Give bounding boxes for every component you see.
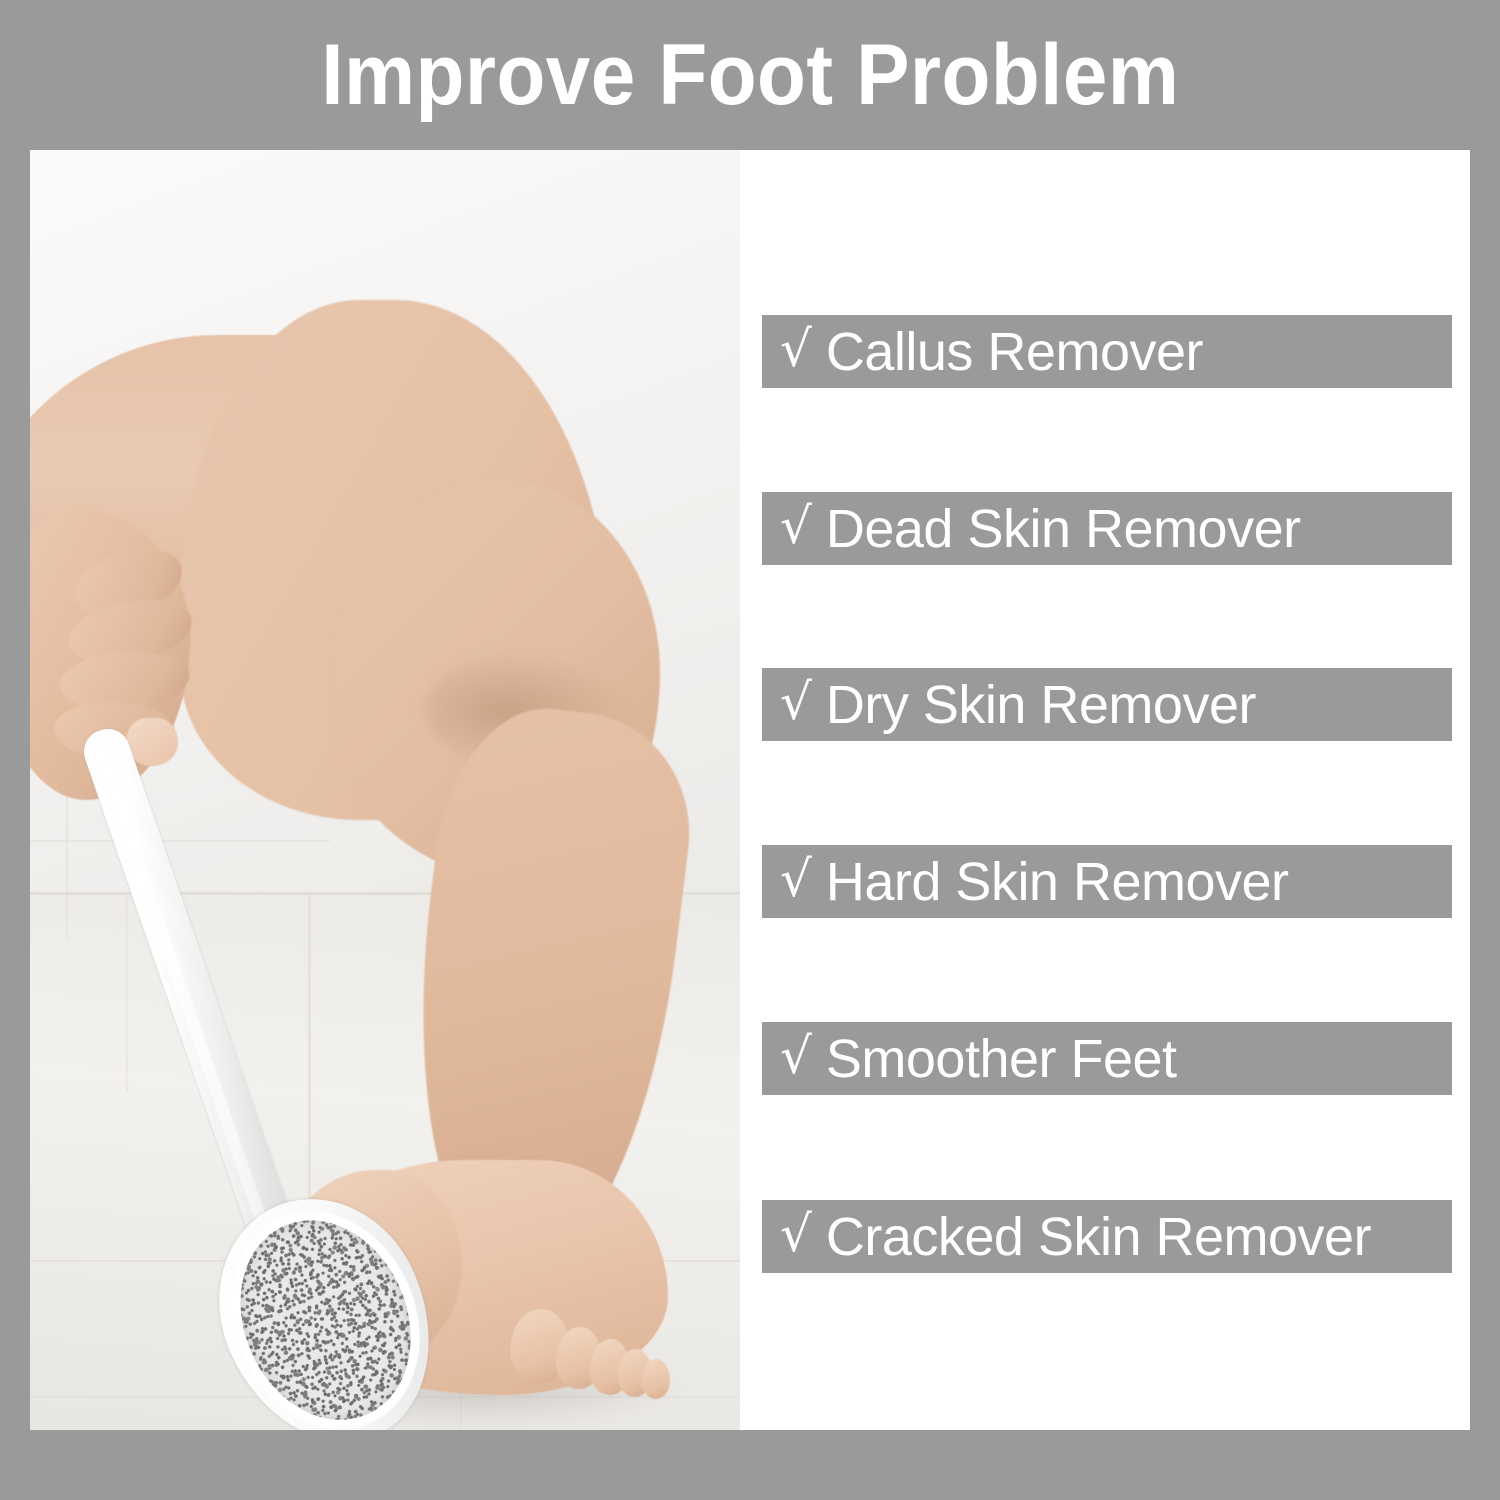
content-card: √ Callus Remover √ Dead Skin Remover √ D… [30,150,1470,1430]
check-icon: √ [780,324,812,374]
feature-item-callus-remover: √ Callus Remover [762,315,1452,388]
feature-label: Dead Skin Remover [826,502,1301,556]
feature-label: Cracked Skin Remover [826,1210,1371,1264]
check-icon: √ [780,1209,812,1259]
page-title: Improve Foot Problem [321,32,1179,118]
check-icon: √ [780,854,812,904]
floor-grout-line [126,892,128,1092]
wall-tile-seam [30,840,330,842]
feature-item-hard-skin-remover: √ Hard Skin Remover [762,845,1452,918]
title-banner: Improve Foot Problem [0,0,1500,150]
check-icon: √ [780,501,812,551]
feature-label: Callus Remover [826,325,1203,379]
feature-item-dead-skin-remover: √ Dead Skin Remover [762,492,1452,565]
feature-item-smoother-feet: √ Smoother Feet [762,1022,1452,1095]
toe [642,1359,670,1399]
foot-toes [510,1305,670,1401]
feature-list: √ Callus Remover √ Dead Skin Remover √ D… [762,150,1470,1430]
feature-label: Dry Skin Remover [826,678,1256,732]
product-feature-poster: Improve Foot Problem [0,0,1500,1500]
check-icon: √ [780,1031,812,1081]
feature-label: Hard Skin Remover [826,855,1289,909]
feature-item-cracked-skin-remover: √ Cracked Skin Remover [762,1200,1452,1273]
feature-label: Smoother Feet [826,1032,1177,1086]
product-photo [30,150,740,1430]
check-icon: √ [780,677,812,727]
feature-item-dry-skin-remover: √ Dry Skin Remover [762,668,1452,741]
